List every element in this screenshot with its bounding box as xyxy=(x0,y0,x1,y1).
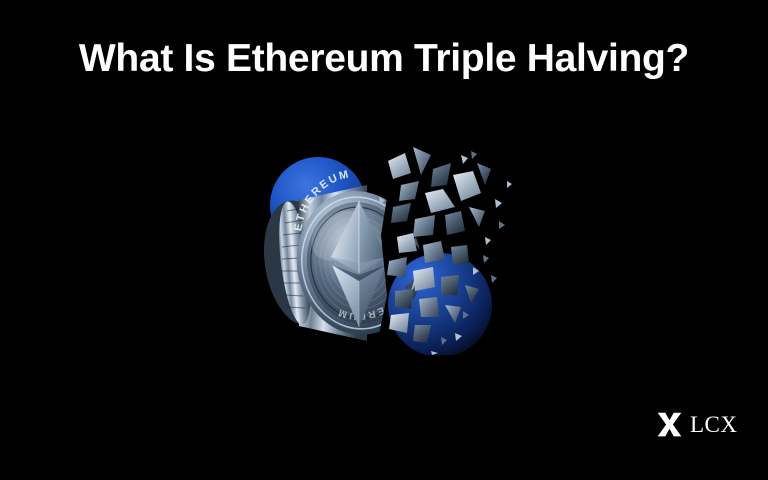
page-title: What Is Ethereum Triple Halving? xyxy=(0,38,768,81)
slide-canvas: What Is Ethereum Triple Halving? xyxy=(0,0,768,480)
lcx-x-mark-icon xyxy=(656,411,683,438)
hero-illustration: ETHEREUM ETHEREUM xyxy=(255,145,515,355)
brand-logo: LCX xyxy=(656,407,740,441)
brand-name: LCX xyxy=(690,413,738,436)
